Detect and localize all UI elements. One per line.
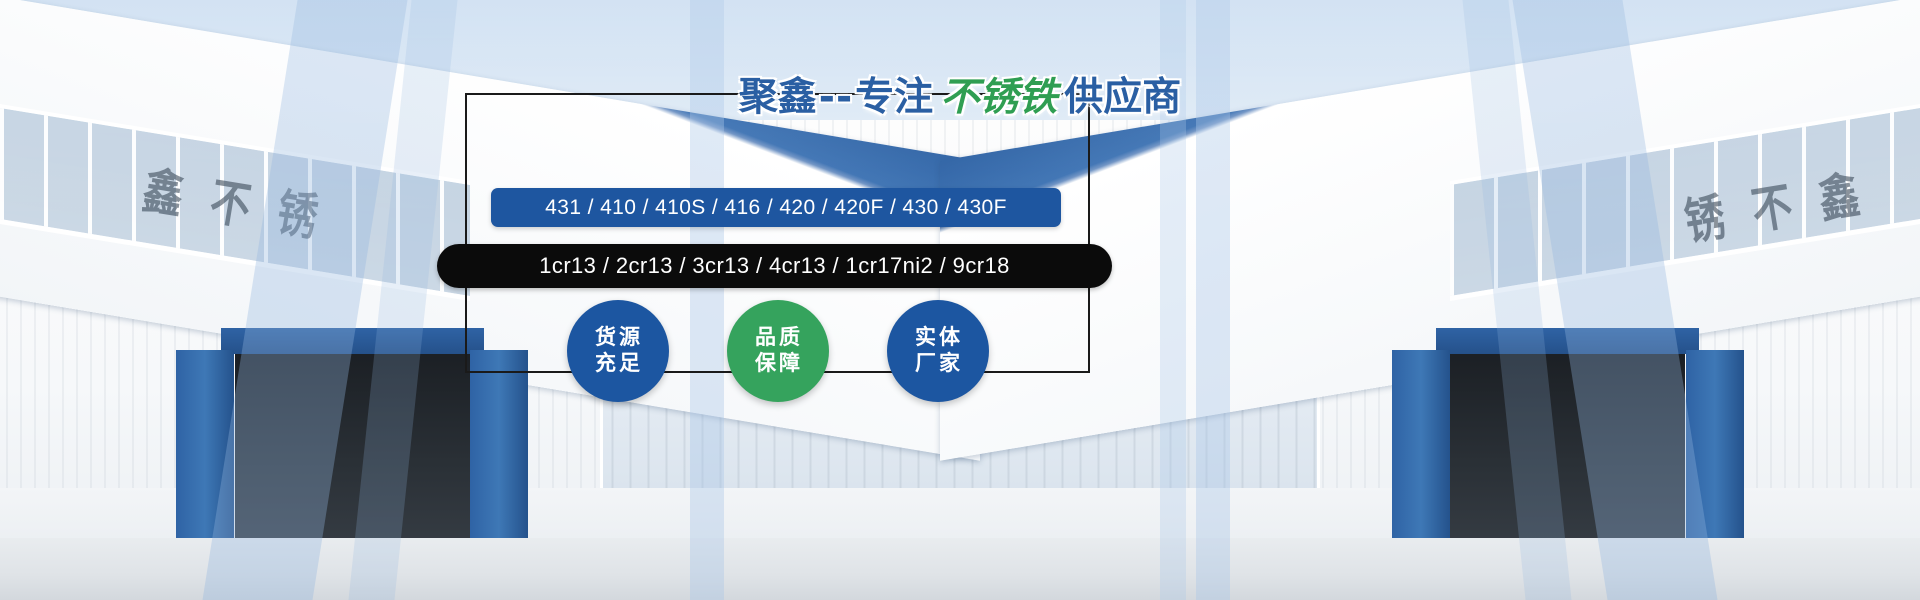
grade-bar-secondary: 1cr13 / 2cr13 / 3cr13 / 4cr13 / 1cr17ni2… [437, 244, 1112, 288]
badge-supply[interactable]: 货源 充足 [567, 300, 669, 402]
badge-quality-line1: 品质 [752, 325, 803, 351]
headline-highlight: 不锈铁 [933, 78, 1064, 117]
badge-quality[interactable]: 品质 保障 [727, 300, 829, 402]
badge-supply-line1: 货源 [592, 325, 643, 351]
badge-factory-line2: 厂家 [912, 351, 963, 377]
headline-brand: 聚鑫 [739, 78, 817, 117]
headline-supplier: 供应商 [1064, 78, 1181, 117]
banner-headline: 聚鑫--专注不锈铁供应商 [0, 76, 1920, 117]
promo-banner: 鑫不锈 锈不鑫 聚鑫--专注不锈铁供应商 431 / 410 / 410S / … [0, 0, 1920, 600]
badge-supply-line2: 充足 [592, 351, 643, 377]
headline-dash: -- [817, 78, 855, 117]
badge-factory[interactable]: 实体 厂家 [887, 300, 989, 402]
feature-badges: 货源 充足 品质 保障 实体 厂家 [465, 300, 1090, 405]
badge-quality-line2: 保障 [752, 351, 803, 377]
badge-factory-line1: 实体 [912, 325, 963, 351]
headline-focus: 专注 [855, 78, 933, 117]
grade-bar-primary: 431 / 410 / 410S / 416 / 420 / 420F / 43… [491, 188, 1061, 227]
